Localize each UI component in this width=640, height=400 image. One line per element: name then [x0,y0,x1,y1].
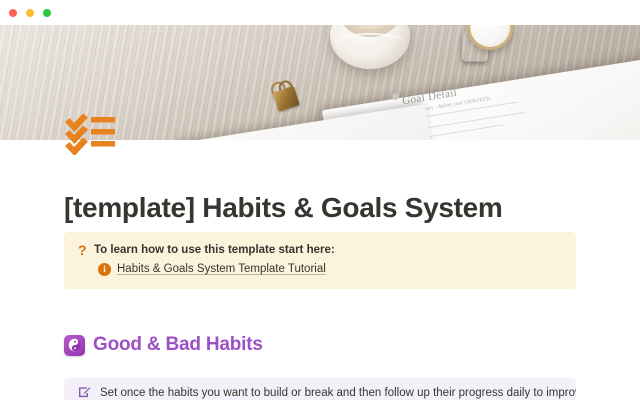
minimize-window-button[interactable] [26,9,34,17]
cup-rim [334,33,406,55]
close-window-button[interactable] [9,9,17,17]
habits-description-callout: Set once the habits you want to build or… [64,378,576,400]
app-window: Goal Detail Goal Summary - define your O… [0,0,640,400]
pencil-edit-icon [78,386,93,400]
tutorial-callout: ? To learn how to use this template star… [64,232,576,289]
checklist-icon [64,113,118,155]
yin-yang-icon [64,335,85,356]
page-title: [template] Habits & Goals System [64,192,503,224]
tutorial-link-row[interactable]: i Habits & Goals System Template Tutoria… [98,263,326,276]
checklist-logo [64,113,118,155]
tutorial-link[interactable]: Habits & Goals System Template Tutorial [117,263,326,276]
callout-text: To learn how to use this template start … [94,243,335,257]
pencil-glyph [78,386,91,399]
section-good-bad-habits[interactable]: Good & Bad Habits [64,334,263,356]
habits-description-row: Set once the habits you want to build or… [78,386,576,400]
maximize-window-button[interactable] [43,9,51,17]
yin-yang-glyph [68,338,82,352]
info-icon: i [98,263,111,276]
question-mark-icon: ? [78,243,94,257]
window-titlebar [0,0,640,25]
habits-description-text: Set once the habits you want to build or… [100,386,576,400]
section-title: Good & Bad Habits [93,334,263,356]
callout-main-row: ? To learn how to use this template star… [78,243,335,257]
traffic-lights [9,9,51,17]
